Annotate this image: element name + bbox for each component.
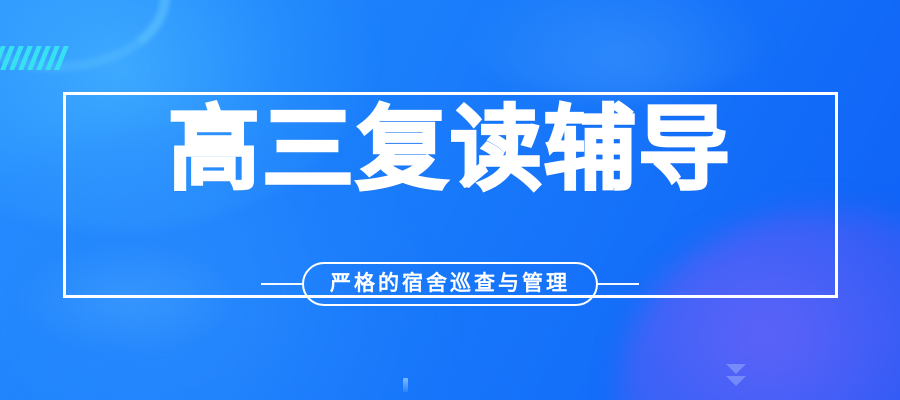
diagonal-stripes-decoration bbox=[0, 46, 71, 70]
bottom-light-mark bbox=[403, 378, 408, 392]
subtitle-container: 严格的宿舍巡查与管理 bbox=[0, 262, 900, 306]
subtitle-rule-left bbox=[261, 283, 303, 285]
subtitle-text: 严格的宿舍巡查与管理 bbox=[330, 271, 570, 295]
subtitle-pill: 严格的宿舍巡查与管理 bbox=[302, 262, 598, 306]
promo-banner: 高三复读辅导 严格的宿舍巡查与管理 bbox=[0, 0, 900, 400]
subtitle-rule-right bbox=[597, 283, 639, 285]
double-chevron-down-icon bbox=[726, 363, 746, 389]
